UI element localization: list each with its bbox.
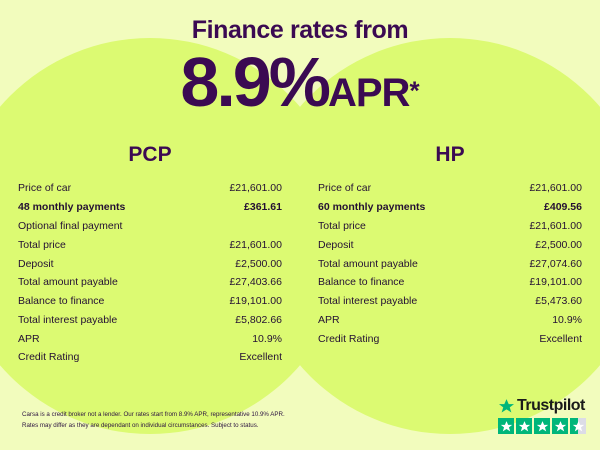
star-half-icon xyxy=(570,418,586,434)
table-row: Optional final payment xyxy=(18,217,282,236)
row-label: Price of car xyxy=(18,182,71,194)
table-row: Credit Rating Excellent xyxy=(318,329,582,348)
table-row: Balance to finance £19,101.00 xyxy=(18,292,282,311)
row-label: 48 monthly payments xyxy=(18,201,125,213)
row-value: £5,473.60 xyxy=(535,295,582,307)
disclaimer-line-2: Rates may differ as they are dependant o… xyxy=(22,421,352,432)
row-value: £21,601.00 xyxy=(229,239,282,251)
row-label: Total price xyxy=(18,239,66,251)
row-value: 10.9% xyxy=(252,333,282,345)
row-label: APR xyxy=(18,333,40,345)
column-hp: HP Price of car £21,601.00 60 monthly pa… xyxy=(300,143,600,367)
table-row: APR 10.9% xyxy=(18,329,282,348)
table-pcp: Price of car £21,601.00 48 monthly payme… xyxy=(18,179,282,367)
table-row: Total amount payable £27,074.60 xyxy=(318,254,582,273)
row-value: £21,601.00 xyxy=(529,182,582,194)
row-value: Excellent xyxy=(239,351,282,363)
row-label: Total price xyxy=(318,220,366,232)
disclaimer-line-1: Carsa is a credit broker not a lender. O… xyxy=(22,410,352,421)
trustpilot-star-rating xyxy=(498,418,586,434)
row-value: £361.61 xyxy=(244,201,282,213)
row-value: £21,601.00 xyxy=(529,220,582,232)
table-row: Total price £21,601.00 xyxy=(318,217,582,236)
row-label: APR xyxy=(318,314,340,326)
row-label: Credit Rating xyxy=(318,333,379,345)
row-label: Credit Rating xyxy=(18,351,79,363)
headline-asterisk: * xyxy=(409,76,419,106)
table-row: Credit Rating Excellent xyxy=(18,348,282,367)
table-row: Deposit £2,500.00 xyxy=(18,254,282,273)
finance-rates-card: Finance rates from 8.9%APR* PCP Price of… xyxy=(0,0,600,450)
table-row: 60 monthly payments £409.56 xyxy=(318,198,582,217)
star-filled-icon xyxy=(498,418,514,434)
star-filled-icon xyxy=(552,418,568,434)
row-value: £19,101.00 xyxy=(529,276,582,288)
row-value: 10.9% xyxy=(552,314,582,326)
headline-apr-label: APR xyxy=(328,71,409,115)
row-label: Total interest payable xyxy=(18,314,117,326)
table-row: Deposit £2,500.00 xyxy=(318,235,582,254)
table-row: Price of car £21,601.00 xyxy=(318,179,582,198)
trustpilot-wordmark: Trustpilot xyxy=(517,397,585,415)
finance-comparison-columns: PCP Price of car £21,601.00 48 monthly p… xyxy=(0,143,600,367)
table-row: Total amount payable £27,403.66 xyxy=(18,273,282,292)
trustpilot-star-icon xyxy=(498,398,515,415)
footer-disclaimer: Carsa is a credit broker not a lender. O… xyxy=(22,410,352,432)
column-title-hp: HP xyxy=(318,143,582,167)
row-value: £2,500.00 xyxy=(535,239,582,251)
table-row: 48 monthly payments £361.61 xyxy=(18,198,282,217)
row-label: Deposit xyxy=(18,258,54,270)
page-title: Finance rates from xyxy=(0,16,600,45)
row-label: 60 monthly payments xyxy=(318,201,425,213)
row-label: Total amount payable xyxy=(18,276,118,288)
row-value: £5,802.66 xyxy=(235,314,282,326)
row-label: Optional final payment xyxy=(18,220,122,232)
trustpilot-rating: Trustpilot xyxy=(498,397,586,434)
table-row: Total interest payable £5,473.60 xyxy=(318,292,582,311)
table-row: Total price £21,601.00 xyxy=(18,235,282,254)
row-label: Deposit xyxy=(318,239,354,251)
row-label: Balance to finance xyxy=(18,295,104,307)
table-row: Balance to finance £19,101.00 xyxy=(318,273,582,292)
row-label: Price of car xyxy=(318,182,371,194)
column-title-pcp: PCP xyxy=(18,143,282,167)
row-value: £27,403.66 xyxy=(229,276,282,288)
row-value: £27,074.60 xyxy=(529,258,582,270)
row-value: £409.56 xyxy=(544,201,582,213)
row-label: Total amount payable xyxy=(318,258,418,270)
row-value: Excellent xyxy=(539,333,582,345)
star-filled-icon xyxy=(516,418,532,434)
headline-rate-block: 8.9%APR* xyxy=(0,47,600,117)
star-filled-icon xyxy=(534,418,550,434)
headline-rate-value: 8.9% xyxy=(180,43,328,121)
table-row: APR 10.9% xyxy=(318,310,582,329)
row-value: £2,500.00 xyxy=(235,258,282,270)
row-value: £21,601.00 xyxy=(229,182,282,194)
row-label: Balance to finance xyxy=(318,276,404,288)
row-label: Total interest payable xyxy=(318,295,417,307)
table-row: Price of car £21,601.00 xyxy=(18,179,282,198)
table-hp: Price of car £21,601.00 60 monthly payme… xyxy=(318,179,582,348)
trustpilot-logo: Trustpilot xyxy=(498,397,586,415)
table-row: Total interest payable £5,802.66 xyxy=(18,310,282,329)
column-pcp: PCP Price of car £21,601.00 48 monthly p… xyxy=(0,143,300,367)
row-value: £19,101.00 xyxy=(229,295,282,307)
header: Finance rates from 8.9%APR* xyxy=(0,0,600,117)
